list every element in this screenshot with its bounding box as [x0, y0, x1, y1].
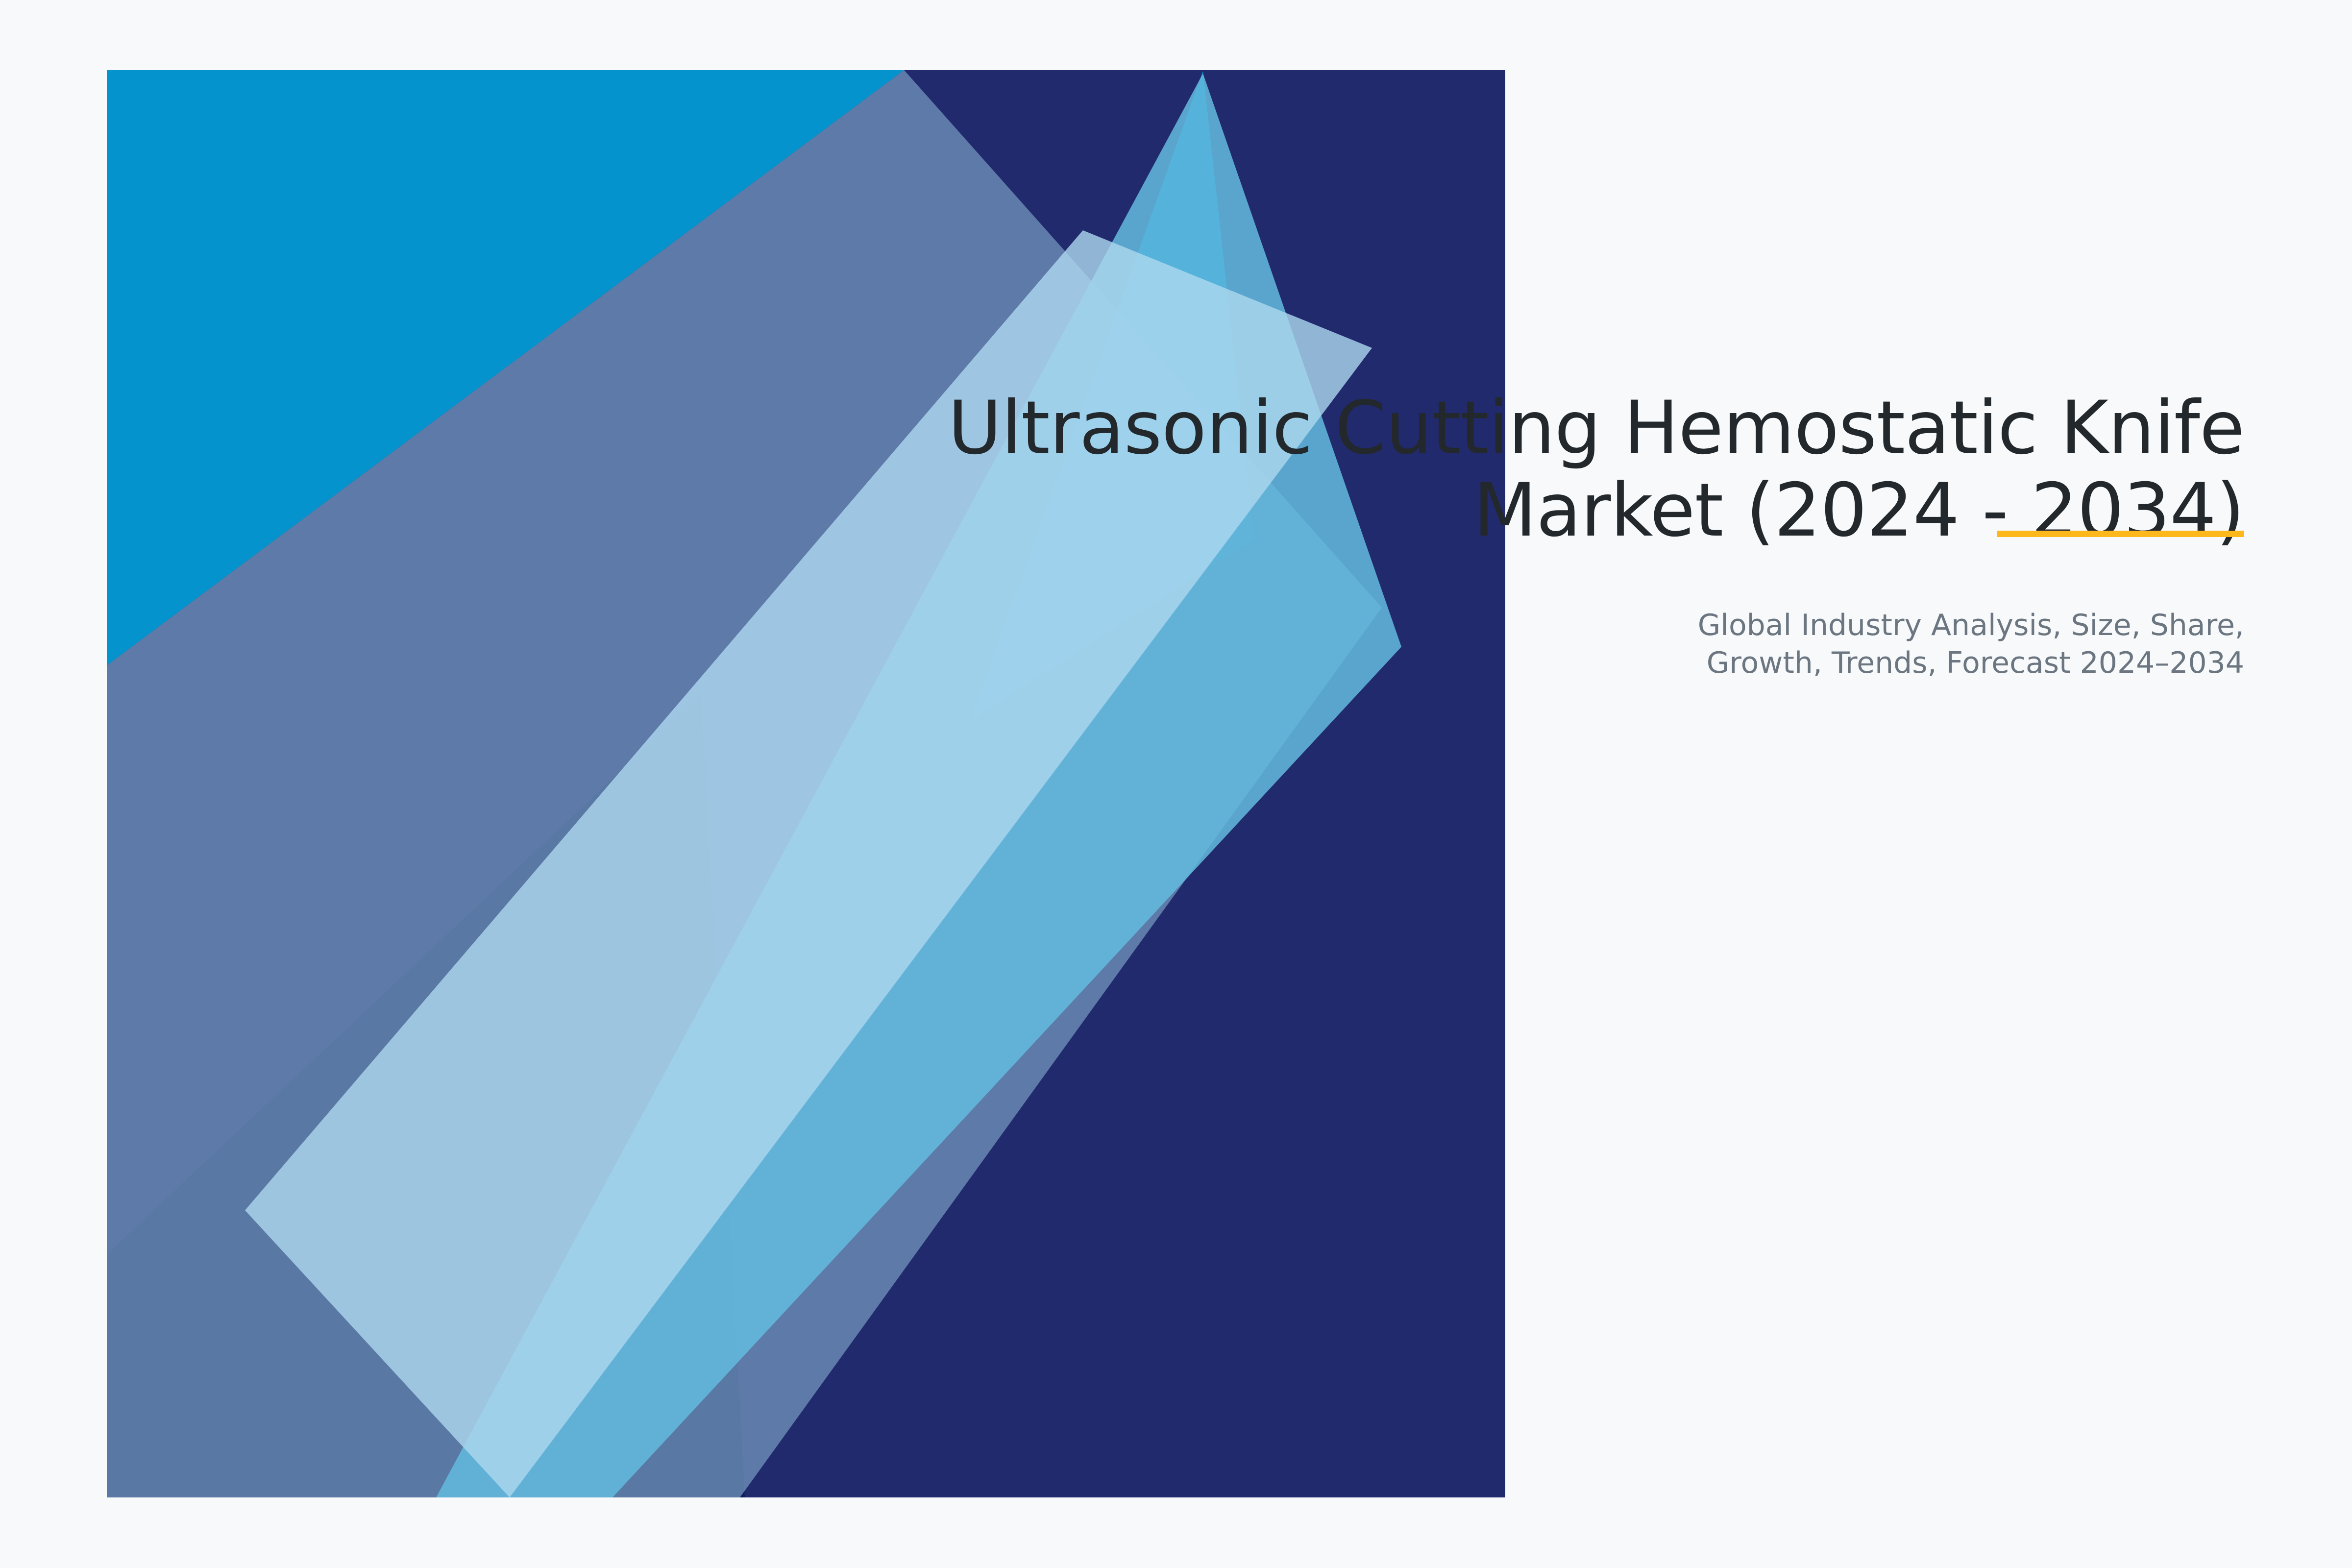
page-title: Ultrasonic Cutting Hemostatic Knife Mark… — [892, 387, 2244, 552]
title-accent-underline — [1997, 531, 2244, 537]
accent-bar — [1997, 531, 2244, 537]
page-subtitle: Global Industry Analysis, Size, Share, G… — [892, 552, 2244, 682]
abstract-geometric-banner — [0, 0, 2352, 1568]
cover-page: Ultrasonic Cutting Hemostatic Knife Mark… — [0, 0, 2352, 1568]
